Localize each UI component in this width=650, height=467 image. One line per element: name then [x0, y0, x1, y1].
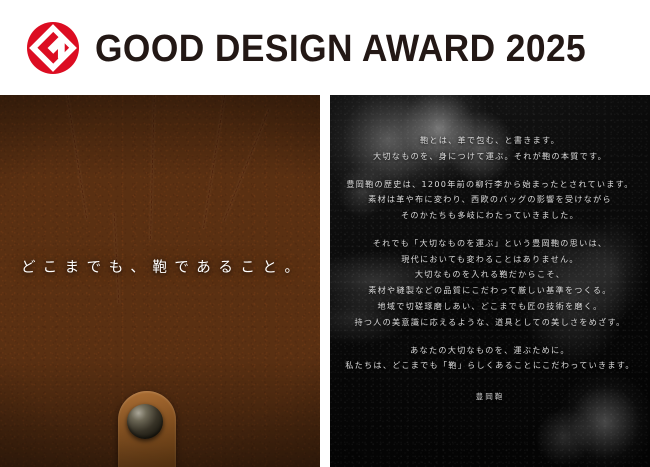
statement-line: 大切なものを入れる鞄だからこそ、: [342, 267, 638, 283]
brand-statement: 鞄とは、革で包む、と書きます。 大切なものを、身につけて運ぶ。それが鞄の本質です…: [330, 95, 650, 467]
metal-rivet-stud-icon: [127, 404, 163, 439]
brand-signature: 豊岡鞄: [342, 391, 638, 402]
statement-line: 地域で切磋琢磨しあい、どこまでも匠の技術を磨く。: [342, 299, 638, 315]
statement-block: あなたの大切なものを、運ぶために。 私たちは、どこまでも「鞄」らしくあることにこ…: [342, 343, 638, 375]
statement-line: そのかたちも多岐にわたっていきました。: [342, 208, 638, 224]
statement-block: 鞄とは、革で包む、と書きます。 大切なものを、身につけて運ぶ。それが鞄の本質です…: [342, 133, 638, 165]
statement-line: 現代においても変わることはありません。: [342, 252, 638, 268]
good-design-award-g-mark-icon: [27, 22, 79, 74]
statement-line: 素材は革や布に変わり、西欧のバッグの影響を受けながら: [342, 192, 638, 208]
statement-block: 豊岡鞄の歴史は、1200年前の柳行李から始まったとされています。 素材は革や布に…: [342, 177, 638, 224]
left-panel-caption: どこまでも、鞄であること。: [0, 256, 320, 277]
award-header: GOOD DESIGN AWARD 2025: [0, 0, 650, 95]
statement-line: 私たちは、どこまでも「鞄」らしくあることにこだわっていきます。: [342, 358, 638, 374]
award-wordmark: GOOD DESIGN AWARD 2025: [95, 28, 586, 68]
workshop-photo-panel: 鞄とは、革で包む、と書きます。 大切なものを、身につけて運ぶ。それが鞄の本質です…: [330, 95, 650, 467]
statement-line: 大切なものを、身につけて運ぶ。それが鞄の本質です。: [342, 149, 638, 165]
statement-block: それでも「大切なものを運ぶ」という豊岡鞄の思いは、 現代においても変わることはあ…: [342, 236, 638, 331]
leather-photo-panel: どこまでも、鞄であること。: [0, 95, 320, 467]
statement-line: それでも「大切なものを運ぶ」という豊岡鞄の思いは、: [342, 236, 638, 252]
promotional-banner: GOOD DESIGN AWARD 2025 どこまでも、鞄であること。: [0, 0, 650, 467]
statement-line: あなたの大切なものを、運ぶために。: [342, 343, 638, 359]
statement-line: 素材や縫製などの品質にこだわって厳しい基準をつくる。: [342, 283, 638, 299]
statement-line: 持つ人の美意識に応えるような、道具としての美しさをめざす。: [342, 315, 638, 331]
statement-line: 豊岡鞄の歴史は、1200年前の柳行李から始まったとされています。: [342, 177, 638, 193]
panel-divider: [320, 95, 330, 467]
statement-line: 鞄とは、革で包む、と書きます。: [342, 133, 638, 149]
image-panels: どこまでも、鞄であること。 鞄とは、革で包む、と書きます。 大切なものを、身につ…: [0, 95, 650, 467]
